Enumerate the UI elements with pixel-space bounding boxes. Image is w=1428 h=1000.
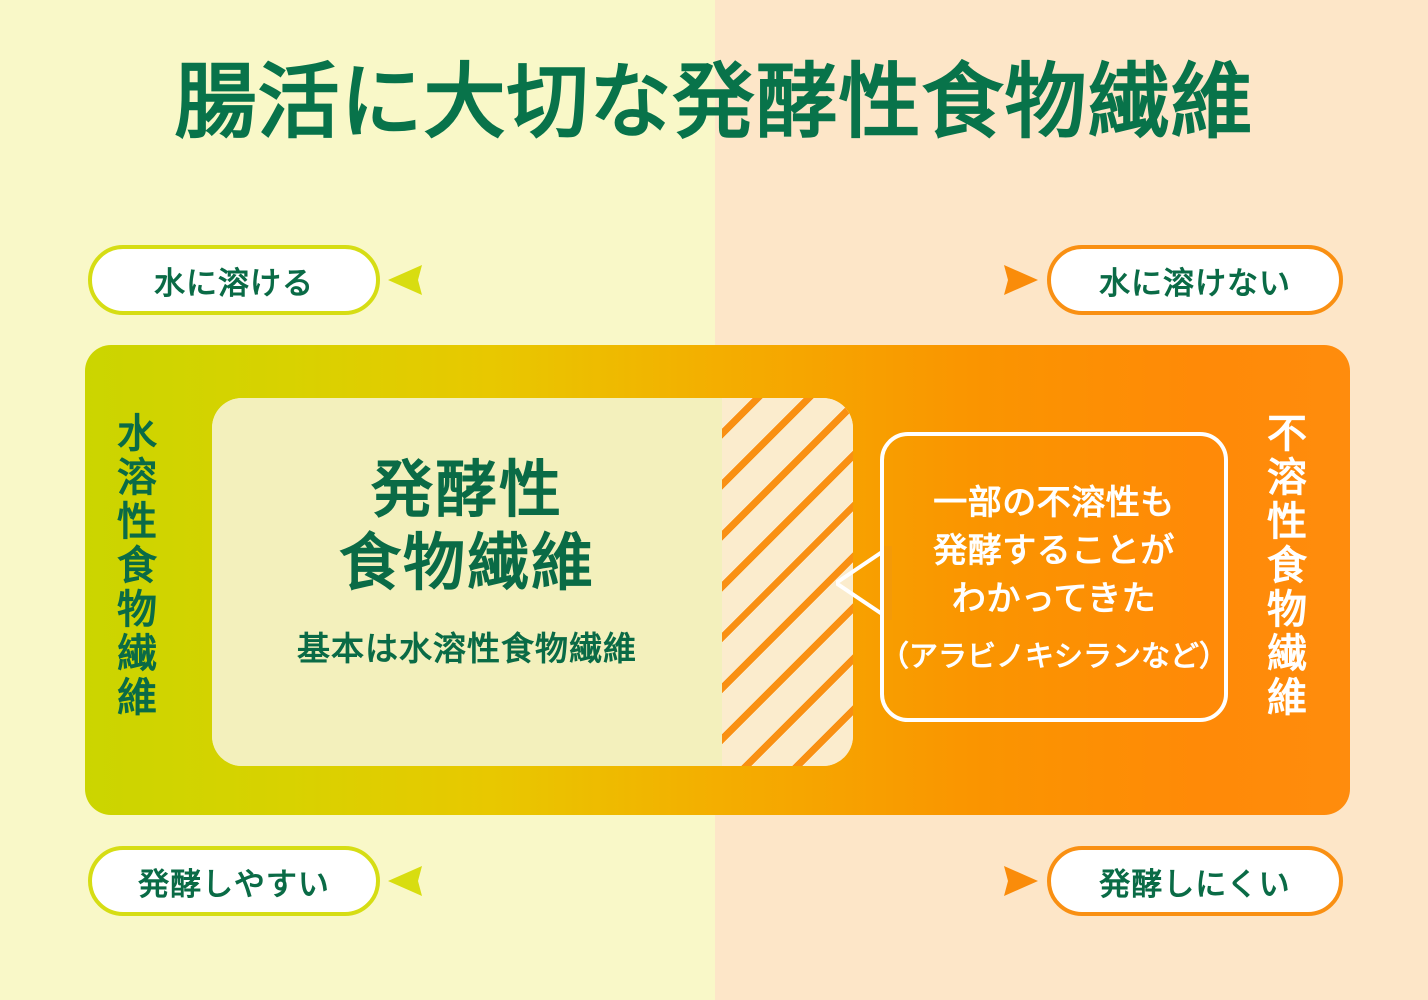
card-title-line1: 発酵性: [212, 454, 722, 527]
bottom-axis-arrow: [388, 861, 1038, 901]
vertical-label-soluble-fiber: 水溶性食物繊維: [112, 412, 154, 720]
callout-line-2: 発酵することが: [933, 527, 1175, 575]
double-headed-arrow-icon: [388, 260, 1038, 300]
infographic-canvas: 腸活に大切な発酵性食物繊維 水に溶ける 水に溶けない 水溶性食物繊維 不溶性食物…: [0, 0, 1428, 1000]
label-hardly-fermented-text: 発酵しにくい: [1099, 859, 1290, 904]
label-easily-fermented: 発酵しやすい: [88, 846, 380, 916]
callout-line-1: 一部の不溶性も: [933, 479, 1175, 527]
label-water-insoluble-text: 水に溶けない: [1099, 258, 1291, 303]
label-easily-fermented-text: 発酵しやすい: [138, 859, 330, 904]
callout-line-3: わかってきた: [933, 575, 1175, 623]
label-hardly-fermented: 発酵しにくい: [1047, 846, 1343, 916]
label-water-soluble: 水に溶ける: [88, 245, 380, 315]
callout-note-text: （アラビノキシランなど）: [880, 633, 1228, 675]
card-title-line2: 食物繊維: [212, 527, 722, 600]
page-title: 腸活に大切な発酵性食物繊維: [0, 62, 1428, 144]
card-text-block: 発酵性 食物繊維 基本は水溶性食物繊維: [212, 454, 722, 670]
card-hatched-region: [722, 398, 853, 766]
callout-main-text: 一部の不溶性も 発酵することが わかってきた: [933, 479, 1175, 624]
vertical-label-insoluble-fiber: 不溶性食物繊維: [1262, 412, 1304, 720]
label-water-soluble-text: 水に溶ける: [154, 258, 314, 303]
fermentable-fiber-card: 発酵性 食物繊維 基本は水溶性食物繊維: [212, 398, 853, 766]
top-axis-arrow: [388, 260, 1038, 300]
insoluble-fermentation-callout: 一部の不溶性も 発酵することが わかってきた （アラビノキシランなど）: [880, 432, 1228, 722]
label-water-insoluble: 水に溶けない: [1047, 245, 1343, 315]
double-headed-arrow-icon: [388, 861, 1038, 901]
card-subtitle: 基本は水溶性食物繊維: [212, 622, 722, 670]
card-title: 発酵性 食物繊維: [212, 454, 722, 600]
